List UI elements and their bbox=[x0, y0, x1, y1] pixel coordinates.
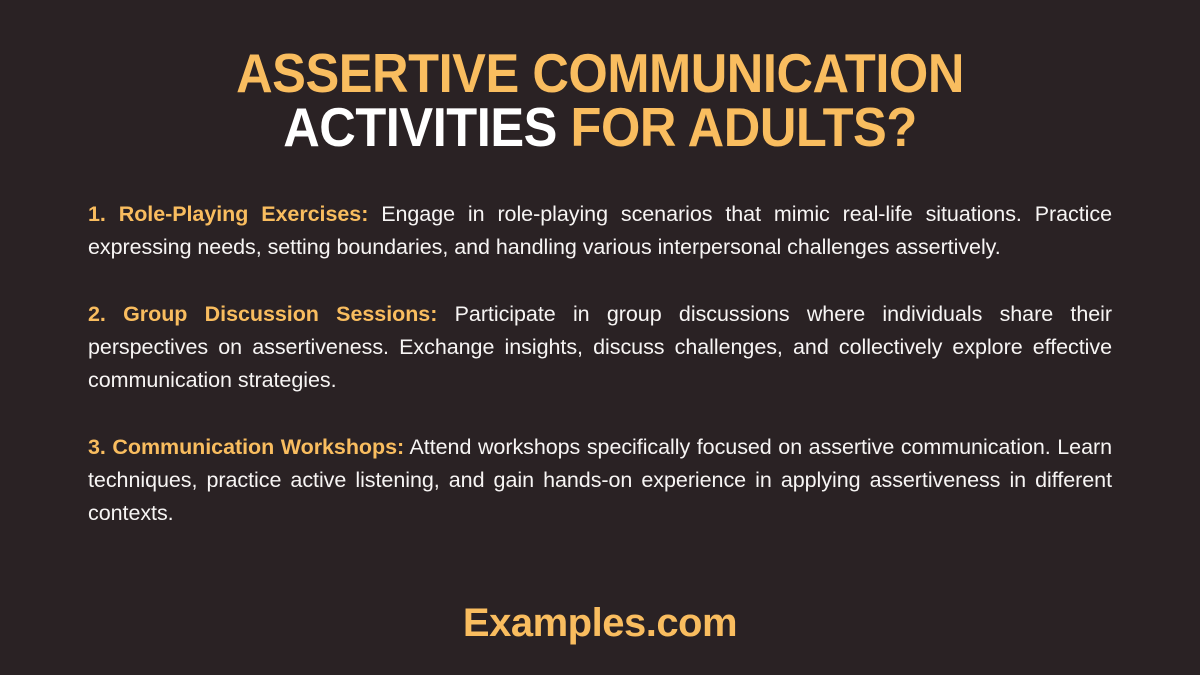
body-content: 1. Role-Playing Exercises: Engage in rol… bbox=[88, 198, 1112, 530]
title-line-1: ASSERTIVE COMMUNICATION bbox=[48, 46, 1152, 100]
title-line-2-amber: FOR ADULTS? bbox=[557, 96, 917, 158]
list-item-label: 3. Communication Workshops: bbox=[88, 435, 404, 459]
page-title: ASSERTIVE COMMUNICATION ACTIVITIES FOR A… bbox=[0, 46, 1200, 154]
list-item: 1. Role-Playing Exercises: Engage in rol… bbox=[88, 198, 1112, 264]
list-item-label: 1. Role-Playing Exercises: bbox=[88, 202, 368, 226]
title-line-1-amber: ASSERTIVE COMMUNICATION bbox=[236, 42, 964, 104]
title-line-2-white: ACTIVITIES bbox=[283, 96, 557, 158]
list-item: 3. Communication Workshops: Attend works… bbox=[88, 431, 1112, 530]
title-line-2: ACTIVITIES FOR ADULTS? bbox=[48, 100, 1152, 154]
slide-root: ASSERTIVE COMMUNICATION ACTIVITIES FOR A… bbox=[0, 0, 1200, 675]
list-item-label: 2. Group Discussion Sessions: bbox=[88, 302, 437, 326]
list-item: 2. Group Discussion Sessions: Participat… bbox=[88, 298, 1112, 397]
brand-watermark: Examples.com bbox=[0, 600, 1200, 646]
